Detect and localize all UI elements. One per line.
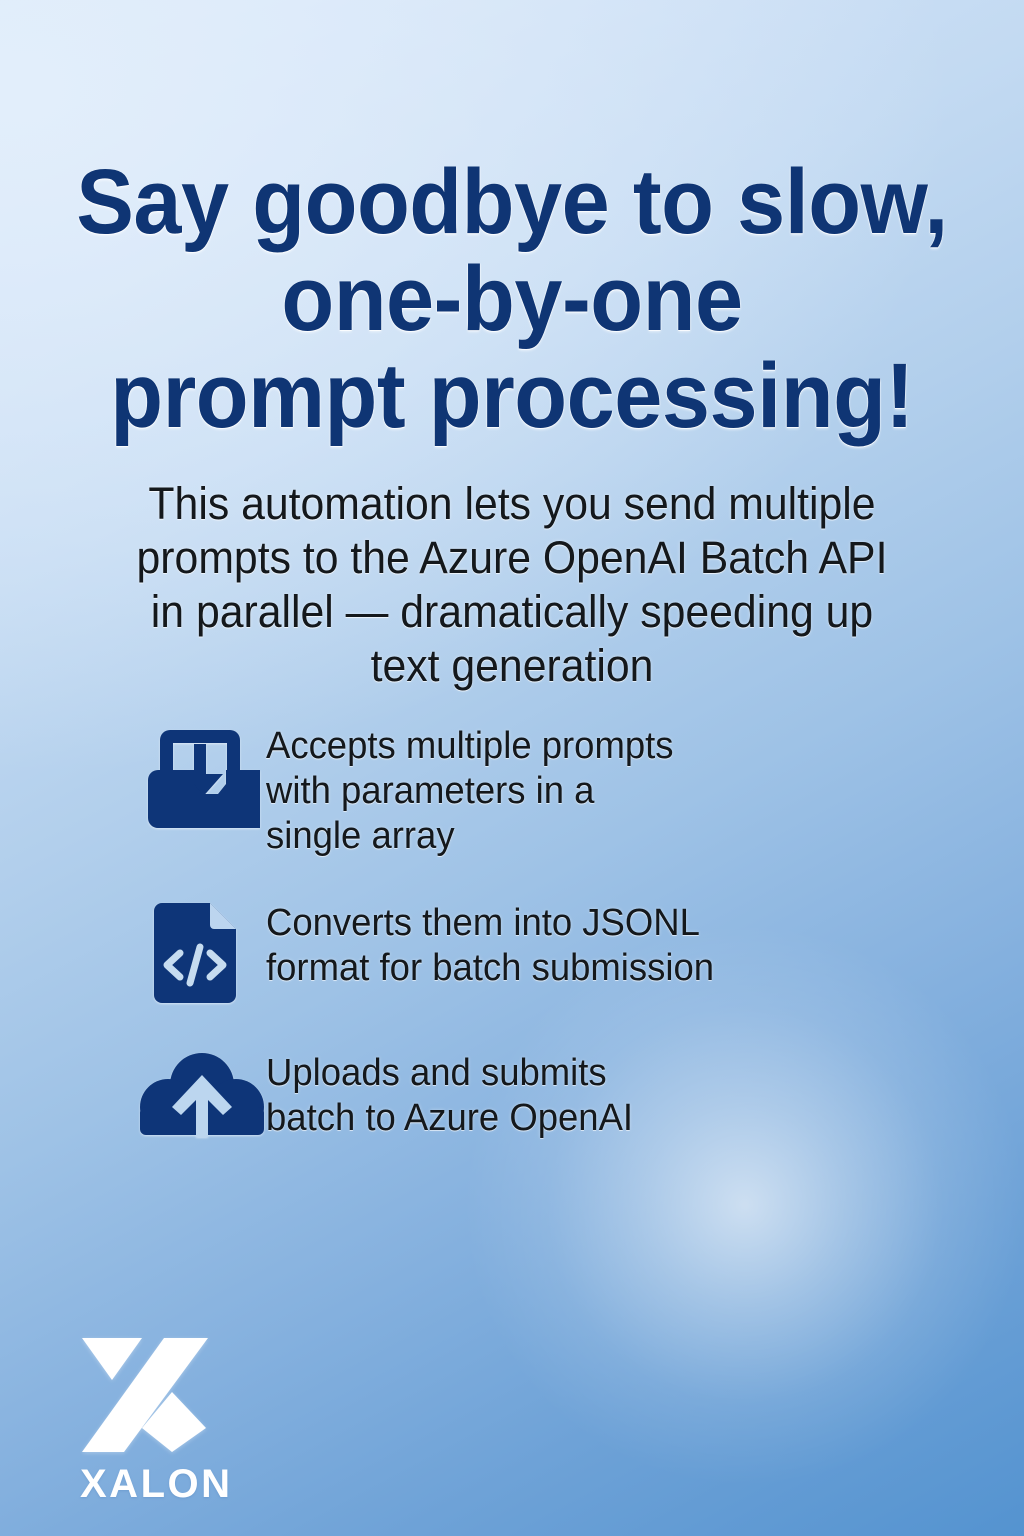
subheading-line-2: prompts to the Azure OpenAI Batch API bbox=[117, 531, 907, 585]
feature-item-accepts-prompts: Accepts multiple prompts with parameters… bbox=[140, 714, 940, 859]
code-file-icon bbox=[140, 891, 266, 1009]
feature-3-line-1: Uploads and submits bbox=[266, 1051, 913, 1096]
feature-item-cloud-upload: Uploads and submits batch to Azure OpenA… bbox=[140, 1041, 940, 1159]
feature-text: Uploads and submits batch to Azure OpenA… bbox=[266, 1041, 913, 1141]
feature-text: Accepts multiple prompts with parameters… bbox=[266, 714, 913, 859]
cloud-upload-icon bbox=[140, 1041, 266, 1159]
promo-poster: Say goodbye to slow, one-by-one prompt p… bbox=[0, 0, 1024, 1536]
feature-text: Converts them into JSONL format for batc… bbox=[266, 891, 913, 991]
subheading-line-4: text generation bbox=[117, 639, 907, 693]
page-title: Say goodbye to slow, one-by-one prompt p… bbox=[31, 154, 994, 445]
feature-2-line-2: format for batch submission bbox=[266, 946, 913, 991]
feature-list: Accepts multiple prompts with parameters… bbox=[140, 714, 940, 1191]
feature-1-line-1: Accepts multiple prompts bbox=[266, 724, 913, 769]
feature-2-line-1: Converts them into JSONL bbox=[266, 901, 913, 946]
subheading-line-1: This automation lets you send multiple bbox=[117, 477, 907, 531]
xalon-x-mark bbox=[80, 1336, 208, 1454]
download-tray-icon bbox=[140, 714, 266, 832]
brand-wordmark: XALON bbox=[80, 1462, 340, 1506]
subheading-line-3: in parallel — dramatically speeding up bbox=[117, 585, 907, 639]
feature-1-line-2: with parameters in a bbox=[266, 769, 913, 814]
headline-line-1: Say goodbye to slow, bbox=[31, 154, 994, 251]
feature-1-line-3: single array bbox=[266, 814, 913, 859]
feature-3-line-2: batch to Azure OpenAI bbox=[266, 1096, 913, 1141]
subheading: This automation lets you send multiple p… bbox=[117, 477, 907, 693]
brand-logo: XALON bbox=[80, 1336, 340, 1506]
headline-line-3: prompt processing! bbox=[31, 348, 994, 445]
feature-item-jsonl-conversion: Converts them into JSONL format for batc… bbox=[140, 891, 940, 1009]
headline-line-2: one-by-one bbox=[31, 251, 994, 348]
